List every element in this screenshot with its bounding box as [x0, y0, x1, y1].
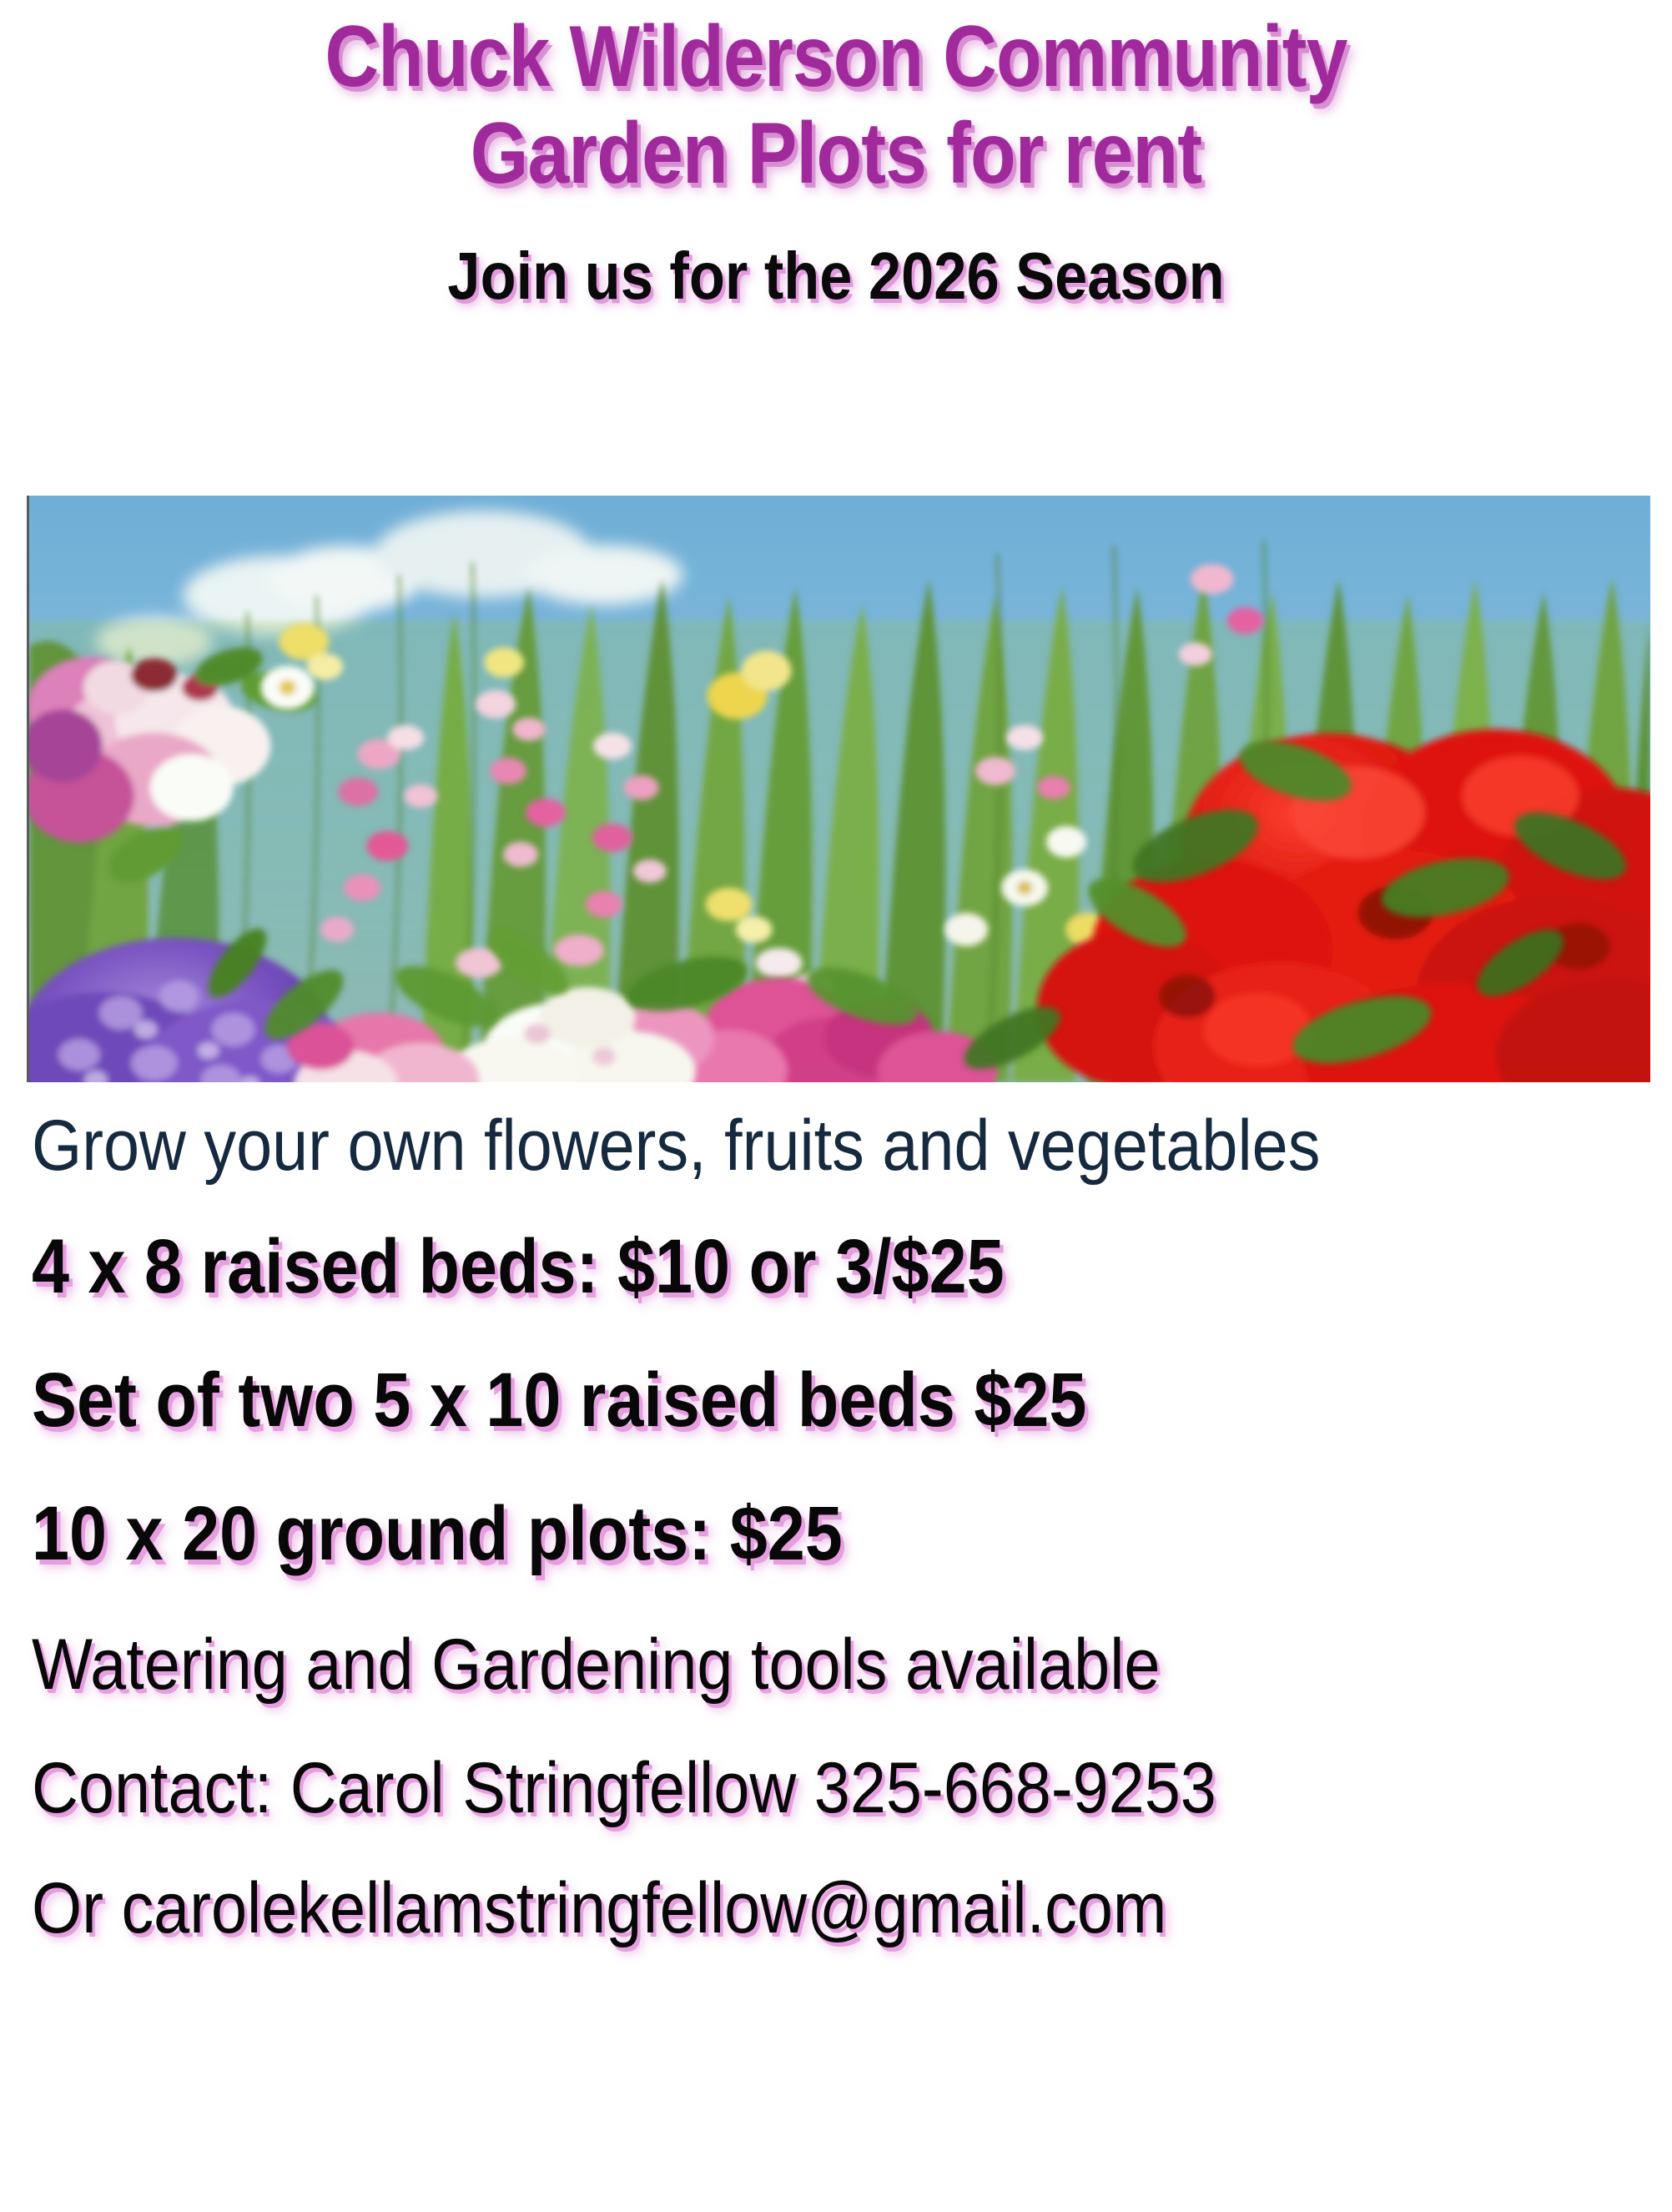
headline-block: Chuck Wilderson Community Garden Plots f…: [0, 0, 1672, 203]
amenities-line: Watering and Gardening tools available: [32, 1629, 1488, 1701]
price-line-raised-beds-5x10: Set of two 5 x 10 raised beds $25: [32, 1362, 1456, 1439]
flyer-page: Chuck Wilderson Community Garden Plots f…: [0, 0, 1672, 2212]
contact-line: Contact: Carol Stringfellow 325-668-9253: [32, 1752, 1488, 1824]
headline-line-2: Garden Plots for rent: [117, 105, 1554, 202]
body-copy-block: Grow your own flowers, fruits and vegeta…: [32, 1110, 1650, 1993]
contact-email-line: Or carolekellamstringfellow@gmail.com: [32, 1872, 1488, 1944]
price-line-ground-plots-10x20: 10 x 20 ground plots: $25: [32, 1495, 1456, 1572]
subheadline: Join us for the 2026 Season: [100, 239, 1572, 313]
garden-photo: [27, 496, 1650, 1082]
garden-photo-illustration: [29, 496, 1650, 1082]
tagline: Grow your own flowers, fruits and vegeta…: [32, 1110, 1488, 1182]
price-line-raised-beds-4x8: 4 x 8 raised beds: $10 or 3/$25: [32, 1228, 1456, 1305]
headline-line-1: Chuck Wilderson Community: [117, 8, 1554, 105]
